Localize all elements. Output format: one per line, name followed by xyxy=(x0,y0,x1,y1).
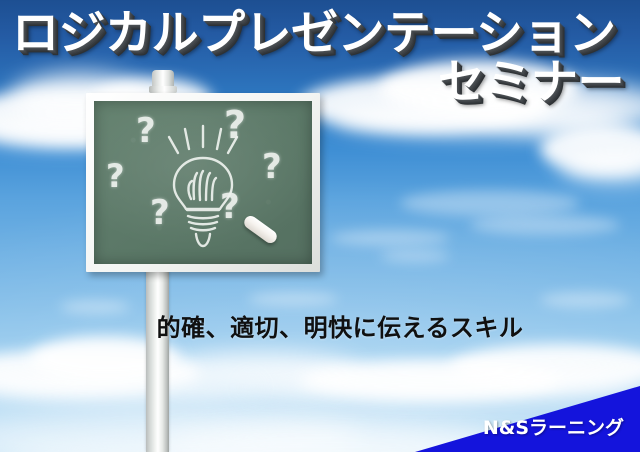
question-mark-icon: ? xyxy=(224,103,246,147)
chalkboard: ? ? ? ? ? ? xyxy=(94,101,312,264)
poster-canvas: ? ? ? ? ? ? ロジカルプレゼンテーション セミナー 的確、適切、明快に… xyxy=(0,0,640,452)
cloud-shape xyxy=(400,190,580,216)
question-mark-icon: ? xyxy=(106,157,125,195)
question-mark-icon: ? xyxy=(220,187,240,227)
question-mark-icon: ? xyxy=(262,147,282,187)
title-block: ロジカルプレゼンテーション セミナー xyxy=(0,0,640,106)
question-mark-icon: ? xyxy=(136,111,156,151)
cloud-shape xyxy=(248,292,338,306)
brand-logo-text: N&Sラーニング xyxy=(483,413,624,440)
cloud-shape xyxy=(240,372,640,400)
cloud-shape xyxy=(540,292,630,308)
page-title-line2: セミナー xyxy=(8,59,632,106)
cloud-shape xyxy=(380,250,450,262)
page-title-line1: ロジカルプレゼンテーション xyxy=(8,10,632,57)
subtitle: 的確、適切、明快に伝えるスキル xyxy=(0,308,640,343)
sign-frame: ? ? ? ? ? ? xyxy=(86,93,320,272)
question-mark-icon: ? xyxy=(150,193,170,233)
cloud-shape xyxy=(330,230,450,246)
cloud-shape xyxy=(470,215,620,235)
